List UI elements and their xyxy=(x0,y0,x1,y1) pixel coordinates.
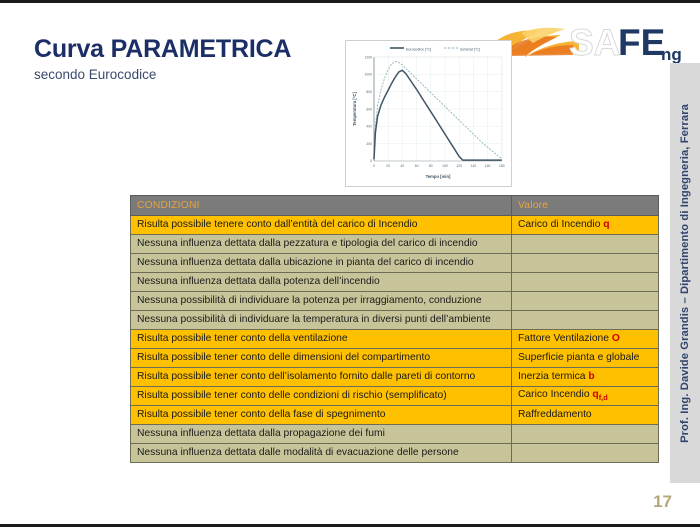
svg-text:FE: FE xyxy=(618,22,665,63)
page-title: Curva PARAMETRICA xyxy=(34,36,334,62)
cell-condition: Risulta possibile tener conto della fase… xyxy=(131,406,512,425)
svg-text:120: 120 xyxy=(456,164,462,168)
cell-value: Carico di Incendio q xyxy=(512,216,659,235)
cell-value xyxy=(512,273,659,292)
svg-text:200: 200 xyxy=(366,142,372,146)
table-body: Risulta possibile tenere conto dall’enti… xyxy=(131,216,659,463)
cell-condition: Risulta possibile tenere conto dall’enti… xyxy=(131,216,512,235)
svg-text:80: 80 xyxy=(429,164,433,168)
cell-value: Raffreddamento xyxy=(512,406,659,425)
table-row: Nessuna influenza dettata dalla ubicazio… xyxy=(131,254,659,273)
svg-text:SA: SA xyxy=(569,22,620,63)
table-row: Nessuna possibilità di individuare la te… xyxy=(131,311,659,330)
svg-text:400: 400 xyxy=(366,125,372,129)
cell-condition: Risulta possibile tener conto della vent… xyxy=(131,330,512,349)
cell-condition: Risulta possibile tener conto delle cond… xyxy=(131,387,512,406)
column-header-condizioni: CONDIZIONI xyxy=(131,196,512,216)
value-symbol: b xyxy=(588,371,594,382)
chart-xlabel: Tempo [min] xyxy=(426,174,451,179)
cell-value xyxy=(512,235,659,254)
table-row: Nessuna influenza dettata dalla pezzatur… xyxy=(131,235,659,254)
svg-text:100: 100 xyxy=(442,164,448,168)
cell-condition: Risulta possibile tener conto dell’isola… xyxy=(131,368,512,387)
value-symbol: qf,d xyxy=(592,389,607,400)
table-header-row: CONDIZIONI Valore xyxy=(131,196,659,216)
svg-text:600: 600 xyxy=(366,107,372,111)
cell-condition: Nessuna influenza dettata dalla potenza … xyxy=(131,273,512,292)
svg-text:0: 0 xyxy=(373,164,375,168)
cell-value xyxy=(512,444,659,463)
table-row: Nessuna influenza dettata dalla potenza … xyxy=(131,273,659,292)
cell-value: Inerzia termica b xyxy=(512,368,659,387)
title-block: Curva PARAMETRICA secondo Eurocodice xyxy=(34,36,334,83)
page-subtitle: secondo Eurocodice xyxy=(34,68,334,83)
cell-value: Carico Incendio qf,d xyxy=(512,387,659,406)
svg-text:Ischerat [°C]: Ischerat [°C] xyxy=(460,48,480,52)
table-row: Risulta possibile tener conto della vent… xyxy=(131,330,659,349)
value-subscript: f,d xyxy=(599,393,608,402)
svg-text:1000: 1000 xyxy=(364,73,372,77)
slide-canvas: Curva PARAMETRICA secondo Eurocodice SA … xyxy=(0,0,700,527)
cell-value xyxy=(512,425,659,444)
svg-text:800: 800 xyxy=(366,90,372,94)
table-row: Nessuna possibilità di individuare la po… xyxy=(131,292,659,311)
value-symbol: O xyxy=(612,333,620,344)
table-row: Nessuna influenza dettata dalle modalità… xyxy=(131,444,659,463)
cell-condition: Nessuna influenza dettata dalle modalità… xyxy=(131,444,512,463)
temperature-time-chart: Eurocodice [°C] Ischerat [°C] xyxy=(345,40,512,187)
svg-text:ng: ng xyxy=(661,45,682,64)
column-header-valore: Valore xyxy=(512,196,659,216)
svg-text:1200: 1200 xyxy=(364,55,372,59)
svg-text:140: 140 xyxy=(471,164,477,168)
svg-text:20: 20 xyxy=(386,164,390,168)
cell-condition: Nessuna possibilità di individuare la te… xyxy=(131,311,512,330)
value-symbol: q xyxy=(603,219,609,230)
page-number: 17 xyxy=(653,492,672,512)
table-row: Risulta possibile tener conto delle cond… xyxy=(131,387,659,406)
author-credit: Prof. Ing. Davide Grandis – Dipartimento… xyxy=(674,63,696,483)
author-credit-text: Prof. Ing. Davide Grandis – Dipartimento… xyxy=(679,104,691,443)
table-row: Risulta possibile tenere conto dall’enti… xyxy=(131,216,659,235)
table-row: Risulta possibile tener conto della fase… xyxy=(131,406,659,425)
table-row: Risulta possibile tener conto delle dime… xyxy=(131,349,659,368)
cell-value xyxy=(512,311,659,330)
cell-condition: Risulta possibile tener conto delle dime… xyxy=(131,349,512,368)
cell-value xyxy=(512,254,659,273)
table-row: Risulta possibile tener conto dell’isola… xyxy=(131,368,659,387)
svg-text:60: 60 xyxy=(415,164,419,168)
cell-condition: Nessuna influenza dettata dalla pezzatur… xyxy=(131,235,512,254)
svg-text:0: 0 xyxy=(370,159,372,163)
svg-text:40: 40 xyxy=(401,164,405,168)
cell-value: Fattore Ventilazione O xyxy=(512,330,659,349)
chart-grid xyxy=(374,57,502,161)
svg-text:180: 180 xyxy=(499,164,505,168)
chart-ylabel: Temperatura [°C] xyxy=(352,92,357,126)
cell-condition: Nessuna possibilità di individuare la po… xyxy=(131,292,512,311)
chart-svg: Eurocodice [°C] Ischerat [°C] xyxy=(346,41,511,186)
svg-text:Eurocodice [°C]: Eurocodice [°C] xyxy=(406,48,431,52)
logo-letters: SA FE ng xyxy=(569,22,682,64)
conditions-table: CONDIZIONI Valore Risulta possibile tene… xyxy=(130,195,659,463)
svg-text:160: 160 xyxy=(485,164,491,168)
cell-value: Superficie pianta e globale xyxy=(512,349,659,368)
cell-value xyxy=(512,292,659,311)
table-row: Nessuna influenza dettata dalla propagaz… xyxy=(131,425,659,444)
cell-condition: Nessuna influenza dettata dalla ubicazio… xyxy=(131,254,512,273)
cell-condition: Nessuna influenza dettata dalla propagaz… xyxy=(131,425,512,444)
